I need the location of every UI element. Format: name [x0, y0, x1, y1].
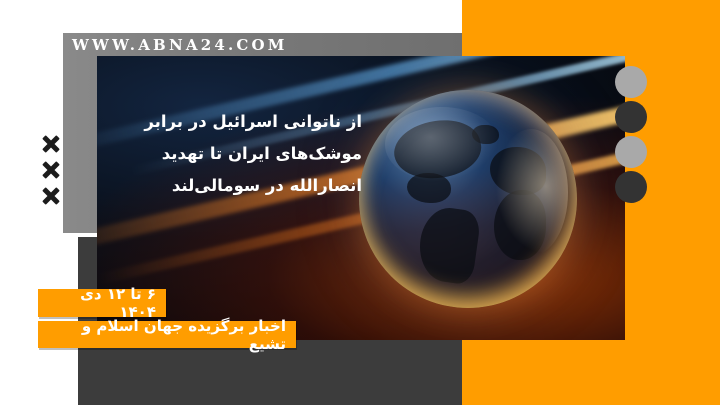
- x-icon: [41, 134, 61, 154]
- dot-dark-icon: [615, 171, 647, 203]
- dot-dark-icon: [615, 101, 647, 133]
- dot-group: [615, 66, 647, 206]
- date-badge: ۶ تا ۱۲ دی ۱۴۰۴: [38, 289, 166, 317]
- globe-graphic: [359, 90, 577, 308]
- globe-highlight: [385, 107, 498, 181]
- x-mark-group: [41, 134, 61, 206]
- x-icon: [41, 186, 61, 206]
- headline-line-1: از ناتوانی اسرائیل در برابر: [112, 106, 362, 138]
- globe-warm-shine: [494, 129, 568, 255]
- headline: از ناتوانی اسرائیل در برابر موشک‌های ایر…: [112, 106, 362, 203]
- subtitle-badge: اخبار برگزیده جهان اسلام و تشیع: [38, 321, 296, 348]
- site-url: WWW.ABNA24.COM: [72, 36, 288, 54]
- headline-line-3: انصارالله در سومالی‌لند: [112, 170, 362, 202]
- cover-canvas: WWW.ABNA24.COM از ناتوانی اسرائیل در برا…: [0, 0, 720, 405]
- x-icon: [41, 160, 61, 180]
- dot-light-icon: [615, 136, 647, 168]
- dot-light-icon: [615, 66, 647, 98]
- headline-line-2: موشک‌های ایران تا تهدید: [112, 138, 362, 170]
